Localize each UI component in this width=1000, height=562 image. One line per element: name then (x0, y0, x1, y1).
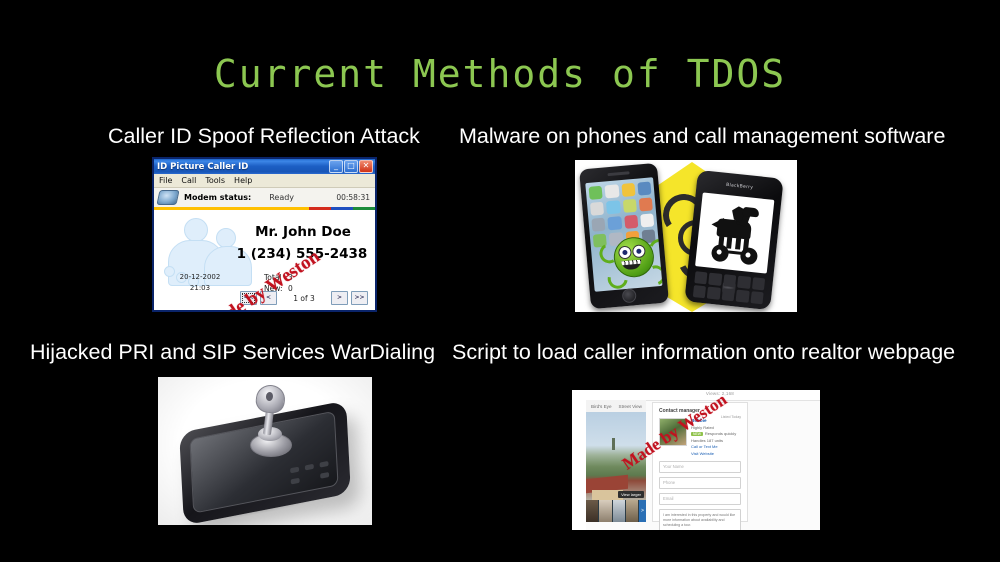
first-record-button[interactable]: << (240, 291, 257, 305)
realtor-page-composite: Views: 2,168 Bird's Eye Street View View… (572, 390, 820, 530)
contact-card-title: Contact manager (659, 408, 741, 414)
call-timer: 00:58:31 (336, 193, 370, 202)
window-titlebar: ID Picture Caller ID _ □ ✕ (154, 159, 375, 174)
email-placeholder: Email (663, 496, 673, 501)
tab-birds-eye[interactable]: Bird's Eye (591, 404, 612, 409)
phone-key-4 (291, 478, 300, 485)
blackberry-device: BlackBerry (684, 170, 783, 310)
key-10 (750, 291, 764, 304)
menu-bar: File Call Tools Help (154, 174, 375, 188)
trojan-head (743, 207, 760, 218)
minimize-button[interactable]: _ (329, 160, 343, 173)
caller-phone: 1 (234) 555-2438 (232, 246, 372, 262)
window-title: ID Picture Caller ID (157, 162, 329, 172)
key-7 (707, 287, 721, 300)
app-icon-7 (622, 199, 636, 213)
agent-badge: NEW (691, 432, 703, 436)
your-name-field[interactable]: Your Name (659, 461, 741, 473)
modem-status-bar: Modem status: Ready 00:58:31 (154, 188, 375, 207)
prev-record-button[interactable]: < (260, 291, 277, 305)
malware-composite: BlackBerry (575, 160, 797, 312)
silhouette-head-2 (216, 228, 236, 248)
close-button[interactable]: ✕ (359, 160, 373, 173)
malware-phones-image: BlackBerry (575, 160, 797, 312)
agent-row: Bobbie Highly Rated NEWResponds quickly … (659, 418, 741, 456)
trojan-leg-2 (726, 235, 732, 248)
caller-name: Mr. John Doe (238, 224, 368, 240)
phone-placeholder: Phone (663, 480, 675, 485)
call-timestamp: 20-12-2002 21:03 (168, 272, 232, 294)
silhouette-head-1 (184, 218, 208, 242)
menu-item-call[interactable]: Call (181, 176, 196, 185)
nav-group-forward: > >> (331, 291, 368, 305)
app-icon-9 (591, 218, 605, 232)
your-name-placeholder: Your Name (663, 464, 684, 469)
key-1 (694, 271, 708, 284)
key-8 (721, 288, 735, 301)
menu-item-file[interactable]: File (159, 176, 172, 185)
views-counter: Views: 2,168 (706, 391, 734, 396)
key-2 (709, 273, 723, 286)
maximize-icon: □ (345, 161, 357, 172)
call-date: 20-12-2002 (168, 272, 232, 283)
virus-pupil-right (636, 249, 641, 254)
window-controls: _ □ ✕ (329, 160, 373, 173)
iphone-screen (585, 177, 662, 292)
app-icon-3 (621, 183, 635, 197)
thumbnail-3[interactable] (613, 500, 625, 522)
record-navigation: << < 1 of 3 > >> (240, 291, 368, 305)
agent-line-1: Highly Rated (691, 425, 741, 430)
nav-group-back: << < (240, 291, 277, 305)
agent-avatar (659, 418, 687, 446)
app-icon-10 (608, 216, 622, 230)
blackberry-keypad (693, 271, 765, 304)
app-icon-4 (637, 181, 651, 195)
next-record-button[interactable]: > (331, 291, 348, 305)
heading-malware-on-phones: Malware on phones and call management so… (459, 124, 945, 149)
heading-script-realtor-webpage: Script to load caller information onto r… (452, 340, 955, 365)
app-icon-11 (624, 215, 638, 229)
caller-id-body: Mr. John Doe 1 (234) 555-2438 Total 3 Ne… (154, 210, 375, 310)
app-icon-6 (606, 200, 620, 214)
trojan-leg-3 (735, 236, 741, 249)
agent-line-2-text: Responds quickly (705, 431, 736, 436)
app-icon-1 (589, 186, 603, 200)
virus-character-icon (596, 227, 663, 292)
app-icon-2 (605, 184, 619, 198)
caller-id-window-image: ID Picture Caller ID _ □ ✕ File Call Too… (152, 157, 377, 312)
app-icon-5 (590, 202, 604, 216)
call-time: 21:03 (168, 283, 232, 294)
record-position: 1 of 3 (293, 294, 315, 303)
key-3 (723, 274, 737, 287)
virus-pupil-left (622, 250, 627, 255)
menu-item-tools[interactable]: Tools (205, 176, 225, 185)
menu-item-help[interactable]: Help (234, 176, 252, 185)
thumbnail-2[interactable] (599, 500, 611, 522)
modem-status-value: Ready (269, 193, 294, 202)
email-field[interactable]: Email (659, 493, 741, 505)
modem-status-label: Modem status: (184, 193, 251, 202)
app-icon-8 (639, 197, 653, 211)
thumbnails-next-button[interactable]: > (639, 500, 646, 522)
agent-line-4[interactable]: Call or Text Me (691, 444, 741, 449)
gallery-thumbnails: > (586, 500, 646, 522)
message-textarea[interactable]: I am interested in this property and wou… (659, 509, 741, 531)
key-6 (693, 285, 707, 298)
close-icon: ✕ (360, 161, 372, 172)
property-gallery: Bird's Eye Street View View larger (586, 400, 646, 522)
phone-field[interactable]: Phone (659, 477, 741, 489)
trojan-horse-icon (704, 203, 765, 263)
earpiece-speaker-icon (607, 171, 629, 176)
listing-meta: Listed Today (721, 415, 741, 420)
trojan-wheel-hub-right (745, 252, 750, 257)
trojan-wheel-right (740, 247, 759, 266)
trojan-wheel-left (711, 244, 730, 263)
locked-phone-composite (158, 377, 372, 525)
photo-steeple (612, 438, 615, 450)
tab-street-view[interactable]: Street View (619, 404, 642, 409)
key-5 (752, 277, 766, 290)
view-larger-button[interactable]: View larger (618, 491, 644, 498)
modem-icon (156, 190, 179, 205)
phone-key-3 (320, 461, 329, 468)
key-4 (737, 276, 751, 289)
heading-caller-id-spoof: Caller ID Spoof Reflection Attack (108, 124, 420, 149)
agent-line-3: Handles 187 units (691, 438, 741, 443)
trojan-wheel-hub-left (716, 249, 721, 254)
phone-key-2 (305, 464, 314, 471)
iphone-device (579, 163, 669, 309)
contact-manager-card: Contact manager Bobbie Highly Rated NEWR… (652, 402, 748, 522)
blackberry-screen (695, 192, 774, 273)
last-record-button[interactable]: >> (351, 291, 368, 305)
realtor-page-body: Views: 2,168 Bird's Eye Street View View… (586, 390, 820, 530)
key-9 (736, 290, 750, 303)
thumbnail-1[interactable] (586, 500, 598, 522)
page-title: Current Methods of TDOS (0, 52, 1000, 96)
blackberry-brand-label: BlackBerry (726, 183, 754, 191)
maximize-button[interactable]: □ (344, 160, 358, 173)
realtor-webpage-image: Views: 2,168 Bird's Eye Street View View… (572, 390, 820, 530)
agent-info: Bobbie Highly Rated NEWResponds quickly … (691, 418, 741, 456)
total-value: 3 (288, 272, 293, 283)
phone-key-5 (320, 472, 329, 479)
caller-id-window: ID Picture Caller ID _ □ ✕ File Call Too… (152, 157, 377, 312)
slide-canvas: Current Methods of TDOS Caller ID Spoof … (0, 0, 1000, 562)
app-icon-12 (640, 213, 654, 227)
locked-phone-image (158, 377, 372, 525)
minimize-icon: _ (330, 161, 342, 172)
thumbnail-4[interactable] (626, 500, 638, 522)
gallery-main-photo[interactable] (586, 412, 646, 500)
agent-line-5[interactable]: Visit Website (691, 451, 741, 456)
phone-key-1 (290, 467, 299, 474)
agent-line-2: NEWResponds quickly (691, 431, 741, 436)
home-button-icon (622, 288, 637, 303)
total-label: Total (264, 272, 288, 283)
heading-hijacked-pri-sip: Hijacked PRI and SIP Services WarDialing (30, 340, 435, 365)
